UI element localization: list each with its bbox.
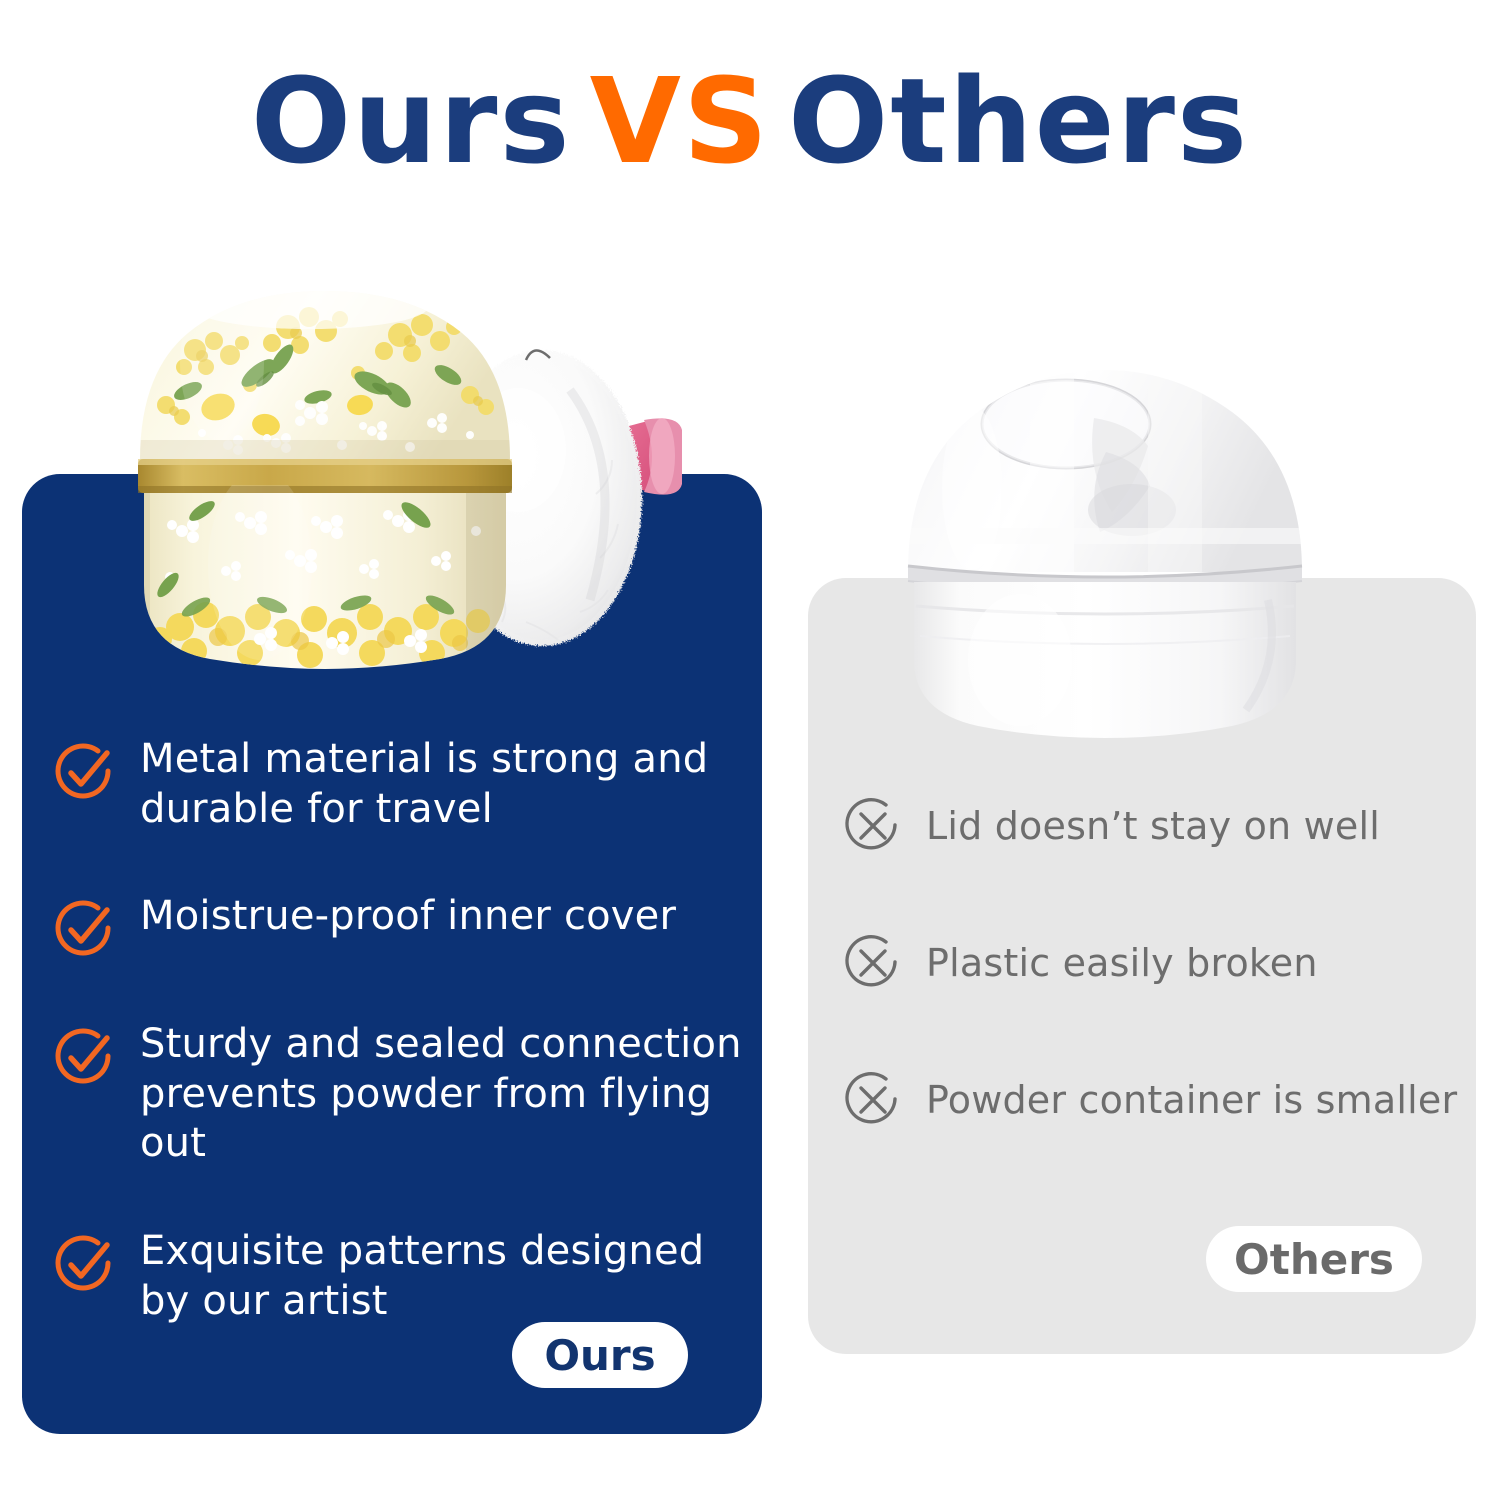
- others-drawback-list: Lid doesn’t stay on well Plastic easily …: [842, 795, 1482, 1131]
- ours-feature-list: Metal material is strong and durable for…: [52, 735, 752, 1326]
- check-circle-icon: [52, 896, 118, 962]
- check-circle-icon: [52, 1231, 118, 1297]
- list-item: Lid doesn’t stay on well: [842, 795, 1482, 857]
- list-item: Moistrue-proof inner cover: [52, 892, 752, 962]
- comparison-infographic: OursVSOthers: [0, 0, 1500, 1500]
- list-item-label: Powder container is smaller: [926, 1077, 1457, 1123]
- list-item: Plastic easily broken: [842, 932, 1482, 994]
- product-image-others: [880, 360, 1330, 750]
- ours-badge: Ours: [512, 1322, 688, 1388]
- page-title: OursVSOthers: [0, 62, 1500, 180]
- check-circle-icon: [52, 739, 118, 805]
- list-item-label: Plastic easily broken: [926, 940, 1318, 986]
- others-badge: Others: [1206, 1226, 1422, 1292]
- list-item-label: Lid doesn’t stay on well: [926, 803, 1380, 849]
- list-item-label: Moistrue-proof inner cover: [140, 892, 676, 942]
- list-item: Exquisite patterns designed by our artis…: [52, 1227, 752, 1326]
- list-item: Sturdy and sealed connection prevents po…: [52, 1020, 752, 1169]
- list-item-label: Sturdy and sealed connection prevents po…: [140, 1020, 750, 1169]
- title-ours-word: Ours: [251, 52, 572, 190]
- list-item-label: Exquisite patterns designed by our artis…: [140, 1227, 750, 1326]
- title-vs-word: VS: [590, 52, 770, 190]
- product-image-ours: [110, 255, 550, 675]
- list-item: Powder container is smaller: [842, 1069, 1482, 1131]
- x-circle-icon: [842, 795, 904, 857]
- list-item-label: Metal material is strong and durable for…: [140, 735, 750, 834]
- list-item: Metal material is strong and durable for…: [52, 735, 752, 834]
- x-circle-icon: [842, 932, 904, 994]
- title-others-word: Others: [788, 52, 1249, 190]
- x-circle-icon: [842, 1069, 904, 1131]
- check-circle-icon: [52, 1024, 118, 1090]
